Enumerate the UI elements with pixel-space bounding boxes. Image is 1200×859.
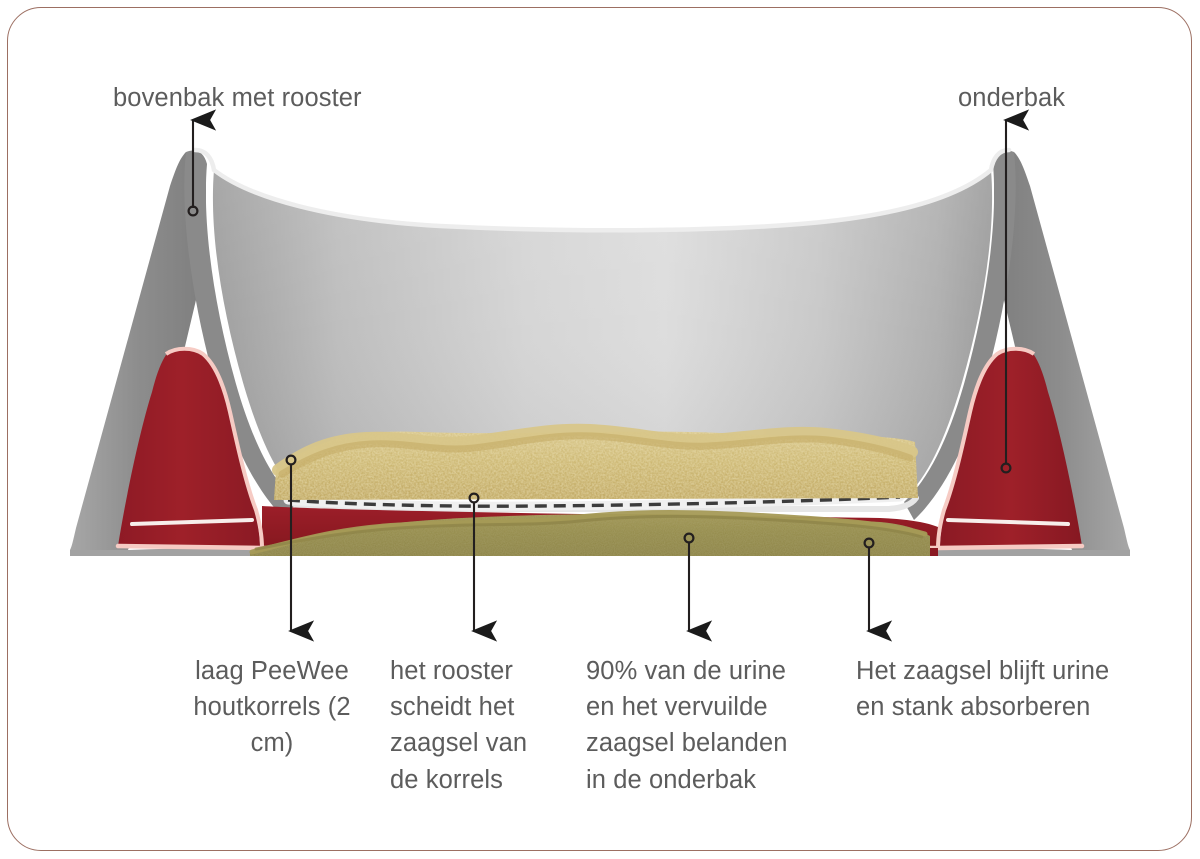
diagram-canvas: bovenbak met rooster onderbak laag PeeWe… bbox=[0, 0, 1200, 859]
callout-label-zaagsel: Het zaagsel blijft urine en stank absorb… bbox=[856, 653, 1156, 725]
callout-label-bovenbak: bovenbak met rooster bbox=[113, 80, 362, 116]
pellet-layer-houtkorrels bbox=[262, 420, 932, 510]
callout-label-onderbak: onderbak bbox=[958, 80, 1065, 116]
callout-label-urine: 90% van de urine en het vervuilde zaagse… bbox=[586, 653, 831, 798]
callout-label-houtkorrels: laag PeeWee houtkorrels (2 cm) bbox=[172, 653, 372, 762]
callout-label-rooster: het rooster scheidt het zaagsel van de k… bbox=[390, 653, 570, 798]
